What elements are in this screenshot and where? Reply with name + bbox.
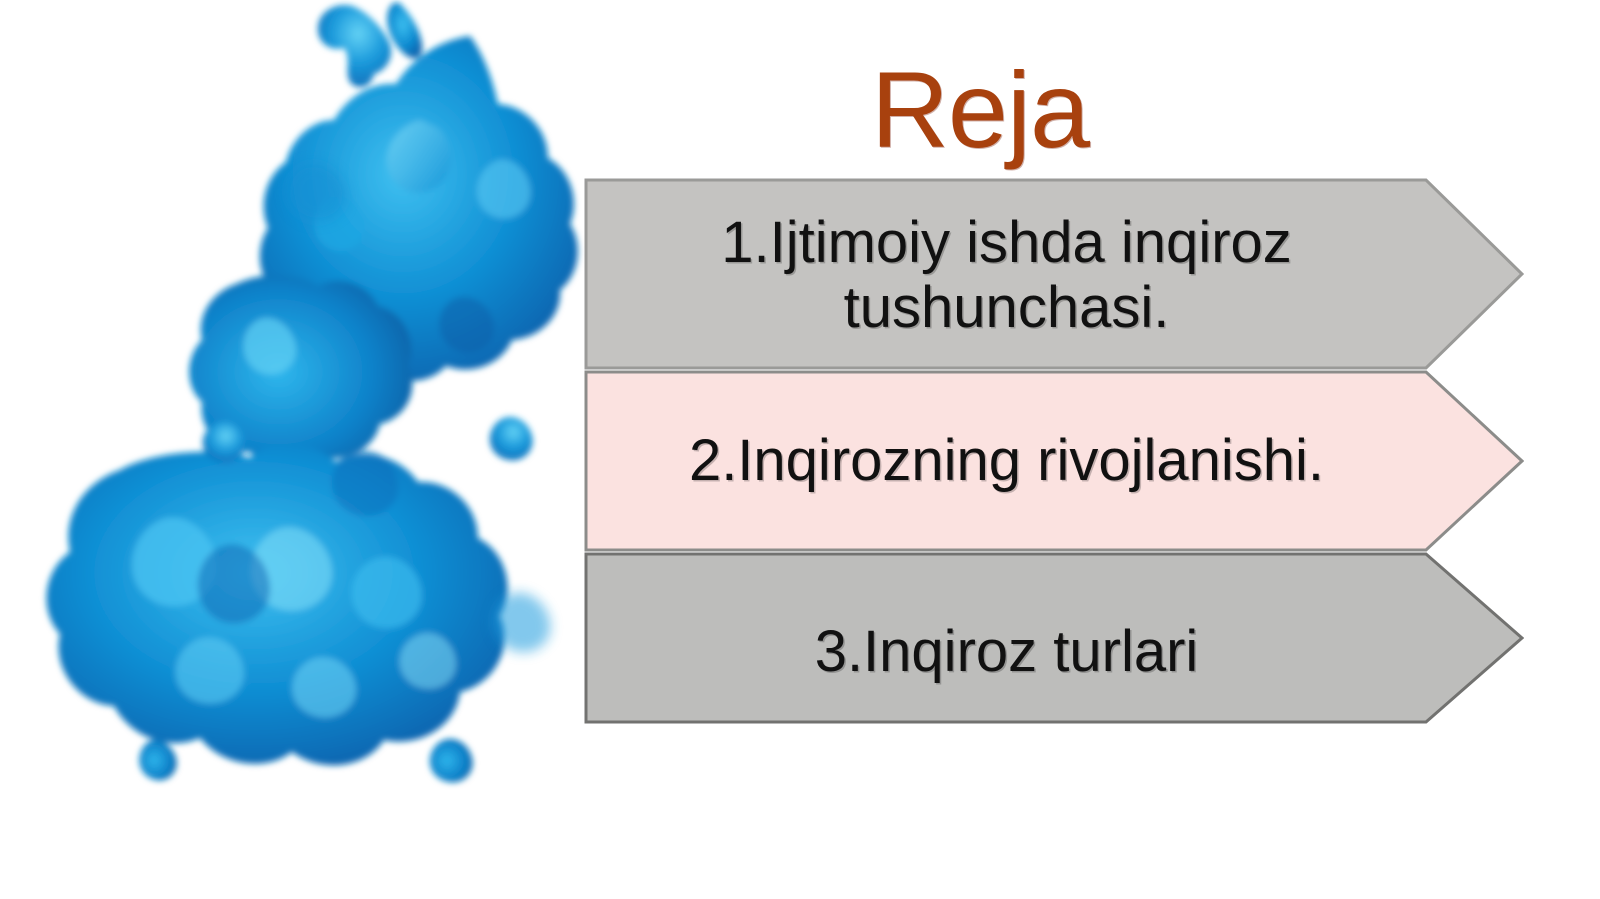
page-title: Reja — [620, 52, 1340, 169]
presentation-slide: Reja 1.Ijtimoiy ishda inqiroz tushunchas… — [0, 0, 1600, 899]
plan-item-2[interactable]: 2.Inqirozning rivojlanishi. — [584, 370, 1524, 552]
plan-item-1[interactable]: 1.Ijtimoiy ishda inqiroz tushunchasi. — [584, 178, 1524, 370]
plan-item-3-label: 3.Inqiroz turlari — [584, 592, 1429, 685]
plan-item-2-label: 2.Inqirozning rivojlanishi. — [584, 429, 1429, 494]
plan-chevron-list: 1.Ijtimoiy ishda inqiroz tushunchasi. 2.… — [584, 178, 1524, 724]
ink-artwork-svg — [0, 0, 620, 830]
blue-ink-cloud-image — [0, 0, 620, 830]
plan-item-3[interactable]: 3.Inqiroz turlari — [584, 552, 1524, 724]
plan-item-1-label: 1.Ijtimoiy ishda inqiroz tushunchasi. — [584, 207, 1429, 341]
